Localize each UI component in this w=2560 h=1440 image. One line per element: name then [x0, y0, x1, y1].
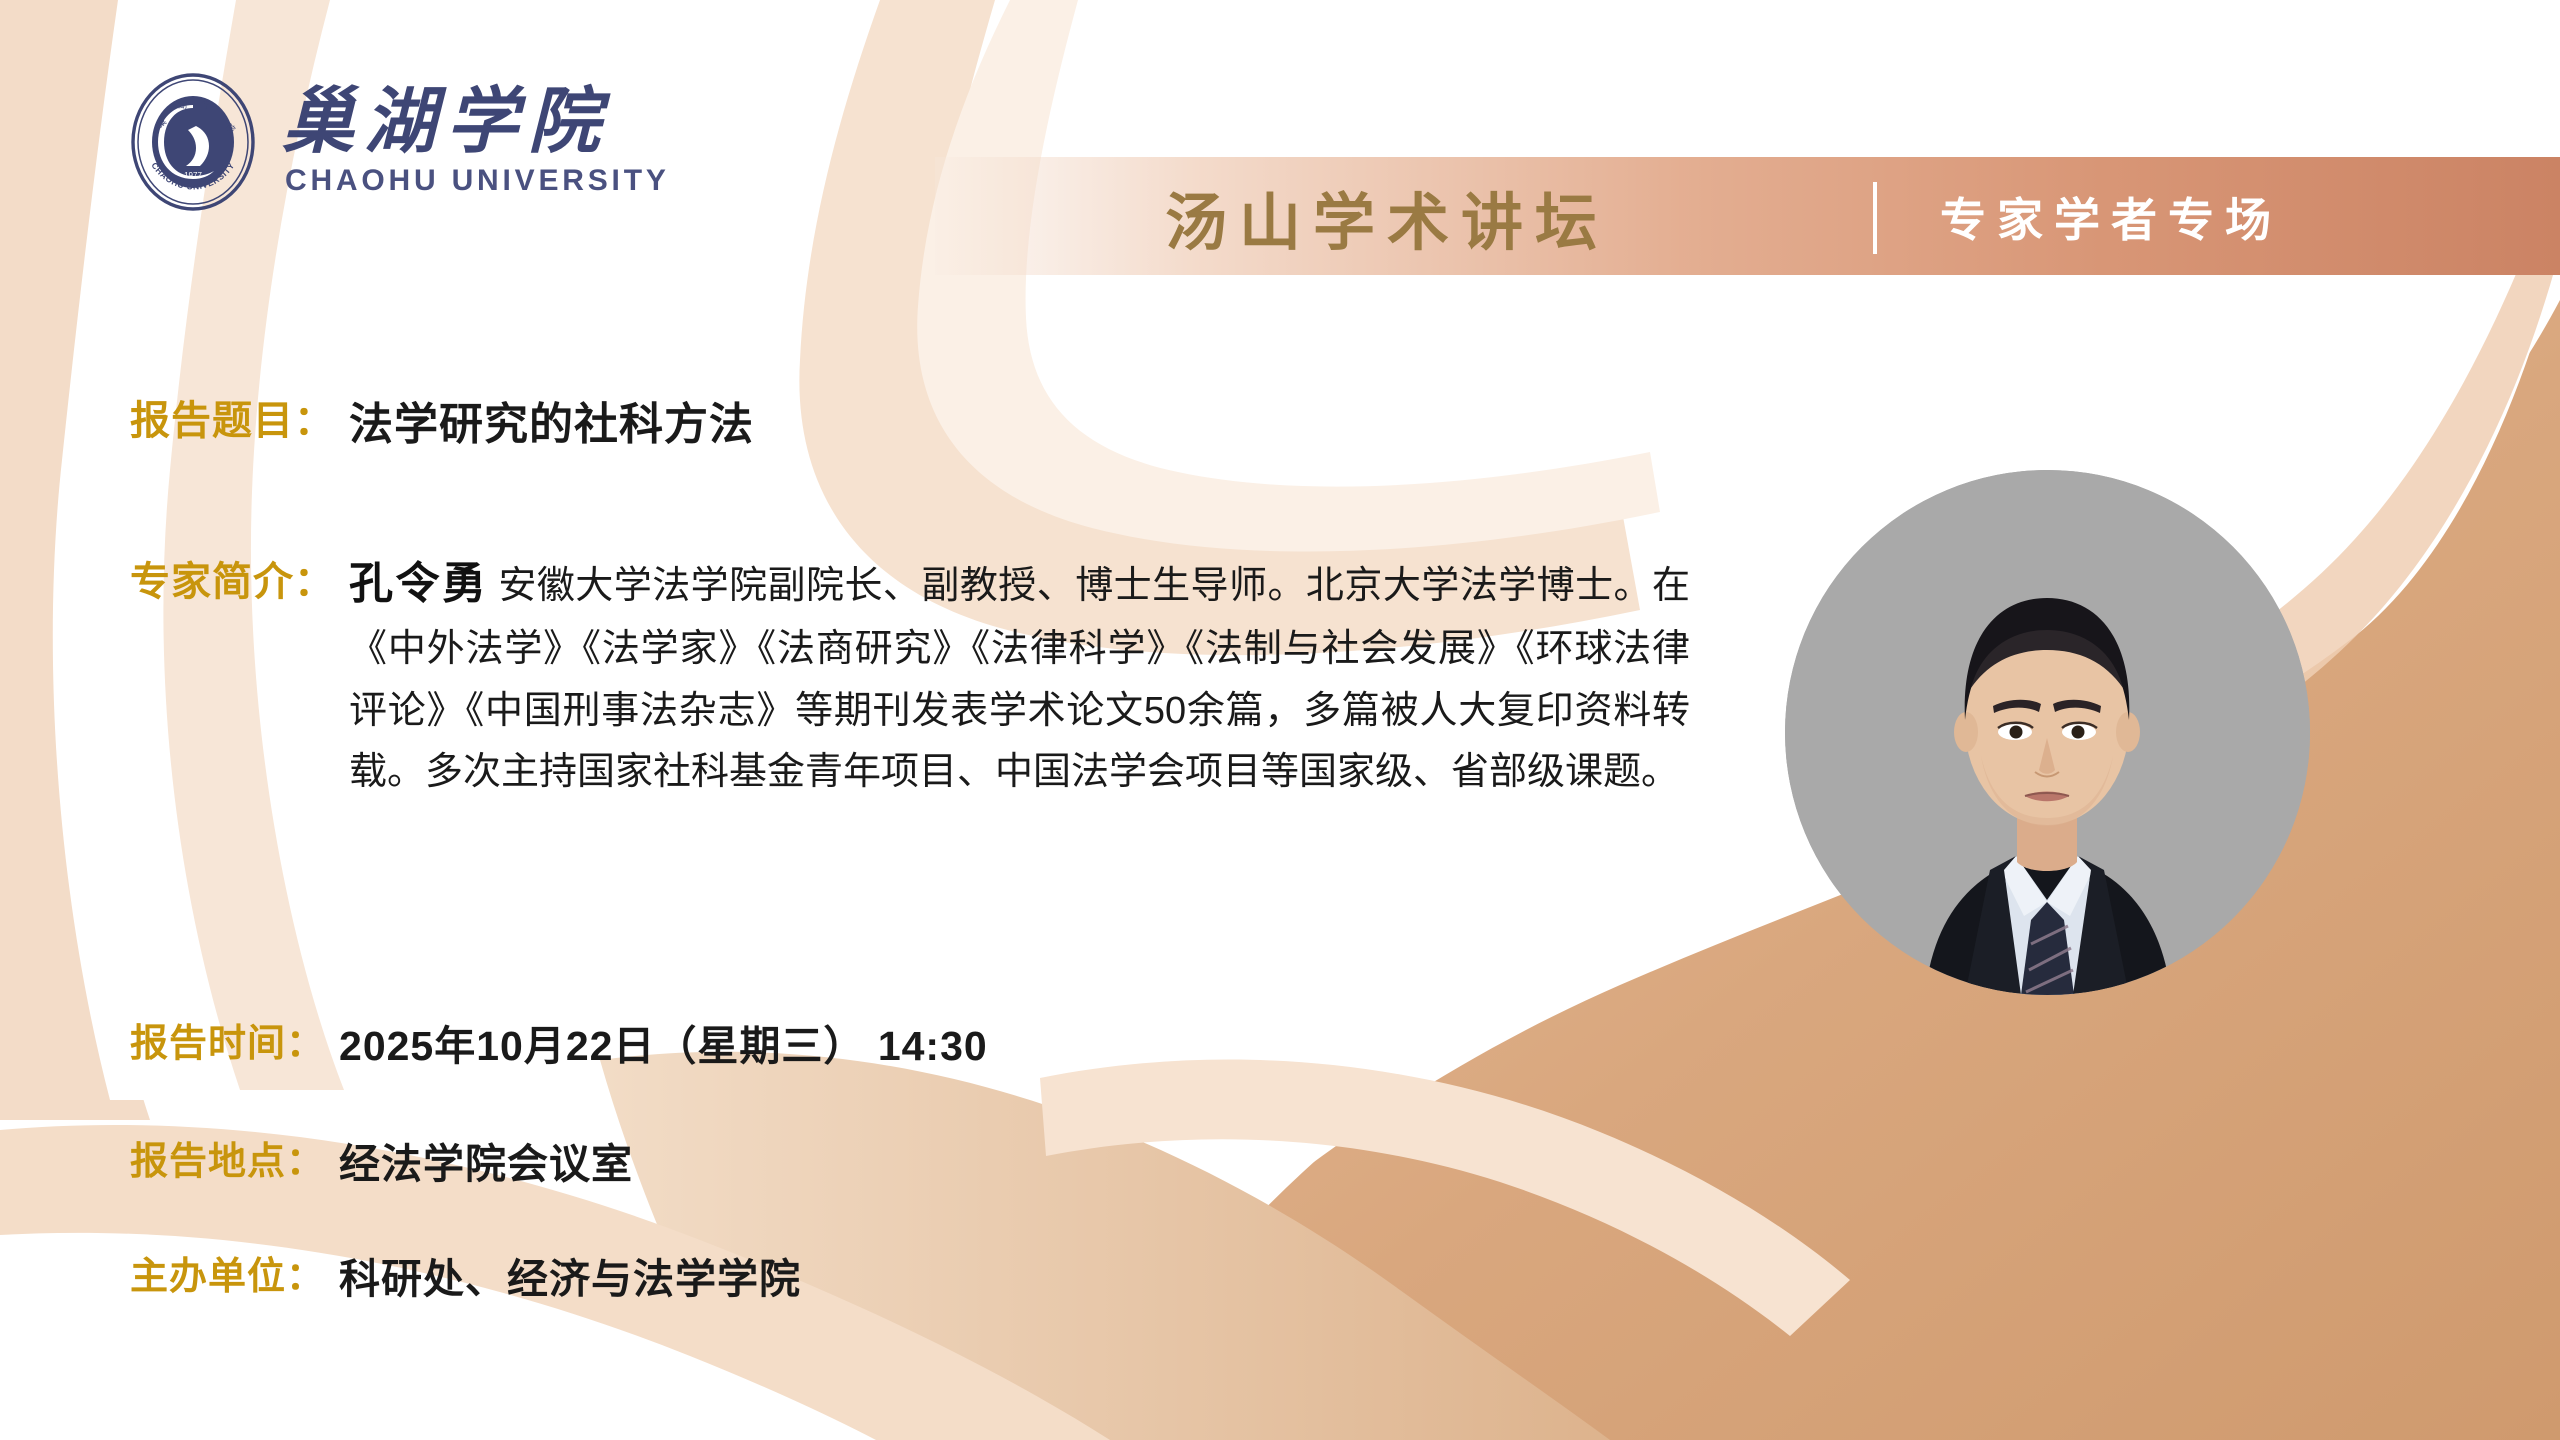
university-seal-icon: 1977 CHAOHU UNIVERSITY 巢 湖 学 院	[130, 72, 256, 212]
speaker-bio-text: 安徽大学法学院副院长、副教授、博士生导师。北京大学法学博士。在《中外法学》《法学…	[349, 565, 1690, 793]
svg-text:学: 学	[202, 99, 211, 110]
decor-band-right	[1010, 250, 2560, 1440]
lecture-time-label: 报告时间：	[130, 1012, 325, 1067]
lecture-host-label: 主办单位：	[130, 1245, 325, 1300]
lecture-title-value: 法学研究的社科方法	[349, 388, 754, 452]
lecture-title-label: 报告题目：	[130, 388, 335, 446]
university-name-en: CHAOHU UNIVERSITY	[285, 164, 670, 198]
lecture-host-value: 科研处、经济与法学学院	[339, 1245, 801, 1305]
speaker-bio-body: 孔令勇安徽大学法学院副院长、副教授、博士生导师。北京大学法学博士。在《中外法学》…	[349, 548, 1690, 804]
university-name-cn: 巢湖学院	[282, 86, 670, 159]
svg-text:湖: 湖	[178, 100, 187, 110]
lecture-time-value: 2025年10月22日（星期三） 14:30	[339, 1012, 988, 1072]
lecture-place-row: 报告地点： 经法学院会议室	[130, 1130, 633, 1190]
lecture-place-value: 经法学院会议室	[339, 1130, 633, 1190]
lecture-poster: 1977 CHAOHU UNIVERSITY 巢 湖 学 院 巢湖学院 CHAO…	[0, 0, 2560, 1440]
university-logo: 1977 CHAOHU UNIVERSITY 巢 湖 学 院 巢湖学院 CHAO…	[130, 72, 970, 212]
decor-arc-portrait-highlight	[1040, 1060, 1850, 1336]
lecture-place-label: 报告地点：	[130, 1130, 325, 1185]
speaker-portrait	[1785, 470, 2310, 995]
speaker-bio-label: 专家简介：	[130, 548, 335, 615]
lecture-title-row: 报告题目： 法学研究的社科方法	[130, 388, 754, 452]
decor-sweep-white	[960, 262, 2560, 1390]
decor-ribbon-top-light	[917, 0, 1660, 552]
forum-subtitle: 专家学者专场	[1940, 184, 2282, 250]
lecture-host-row: 主办单位： 科研处、经济与法学学院	[130, 1245, 801, 1305]
seal-year: 1977	[184, 171, 202, 180]
university-name-block: 巢湖学院 CHAOHU UNIVERSITY	[282, 86, 670, 197]
speaker-bio-row: 专家简介： 孔令勇安徽大学法学院副院长、副教授、博士生导师。北京大学法学博士。在…	[130, 548, 1690, 804]
band-divider	[1873, 182, 1877, 254]
lecture-time-row: 报告时间： 2025年10月22日（星期三） 14:30	[130, 1012, 988, 1072]
speaker-name: 孔令勇	[349, 559, 488, 608]
forum-title: 汤山学术讲坛	[1165, 172, 1609, 262]
